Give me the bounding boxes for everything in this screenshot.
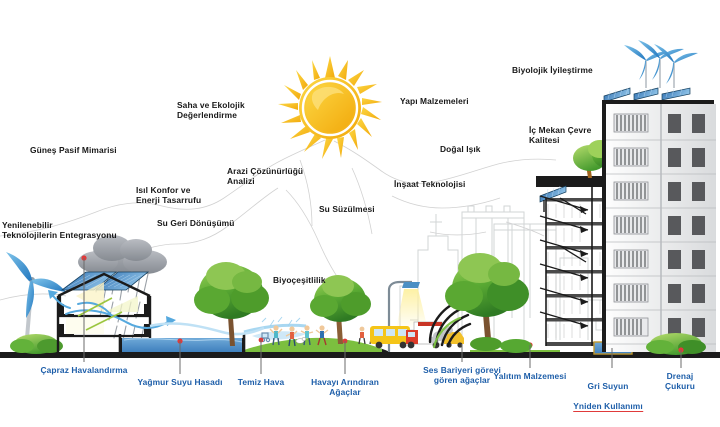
shrub-midleft <box>500 339 532 353</box>
greywater-label-line1: Gri Suyun <box>588 381 629 391</box>
label-ic-mekan-cevre-kalitesi: İç Mekan Çevre Kalitesi <box>529 126 591 146</box>
label-insaat-teknolojisi: İnşaat Teknolojisi <box>394 180 465 190</box>
highrise-tower <box>602 40 716 352</box>
label-temiz-hava: Temiz Hava <box>238 378 284 388</box>
sun-icon <box>278 56 382 159</box>
label-yapi-malzemeleri: Yapı Malzemeleri <box>400 97 469 107</box>
label-yenilenebilir-teknolojilerin-entegrasyonu: Yenilenebilir Teknolojilerin Entegrasyon… <box>2 221 117 241</box>
label-gunes-pasif-mimarisi: Güneş Pasif Mimarisi <box>30 146 117 156</box>
label-arazi-cozunurlugu-analizi: Arazi Çözünürlüğü Analizi <box>227 167 303 187</box>
deciduous-tree-left <box>194 262 269 346</box>
label-havayi-arindiran-agaclar: Havayı Arındıran Ağaçlar <box>311 378 379 398</box>
label-yalitim-malzemesi: Yalıtım Malzemesi <box>494 372 567 382</box>
shrub-left <box>10 334 63 354</box>
label-biyolojik-iyilestirme: Biyolojik İyileştirme <box>512 66 593 76</box>
label-yagmur-suyu-hasadi: Yağmur Suyu Hasadı <box>137 378 222 388</box>
label-capraz-havalandirma: Çapraz Havalandırma <box>40 366 127 376</box>
label-drenaj-cukuru: Drenaj Çukuru <box>660 372 700 392</box>
solar-panels-highrise <box>604 88 690 102</box>
label-biyocesitlilik: Biyoçeşitlilik <box>273 276 326 286</box>
label-saha-ve-ekolojik-degerlendirme: Saha ve Ekolojik Değerlendirme <box>177 101 245 121</box>
label-ses-bariyeri-goren-agaclar: Ses Bariyeri görevi gören ağaçlar <box>423 366 501 386</box>
infographic-canvas: Güneş Pasif Mimarisi Yenilenebilir Tekno… <box>0 0 720 427</box>
label-su-suzulmesi: Su Süzülmesi <box>319 205 375 215</box>
wind-turbines-rooftop <box>624 40 698 88</box>
label-isil-konfor-ve-enerji-tasarrufu: Isıl Konfor ve Enerji Tasarrufu <box>136 186 201 206</box>
label-dogal-isik: Doğal Işık <box>440 145 481 155</box>
label-gri-suyun-yeniden-kullanimi: Gri Suyun Yniden Kullanımı <box>573 372 643 412</box>
label-su-geri-donusumu: Su Geri Dönüşümü <box>157 219 234 229</box>
greywater-label-line2: Yniden Kullanımı <box>573 402 643 412</box>
